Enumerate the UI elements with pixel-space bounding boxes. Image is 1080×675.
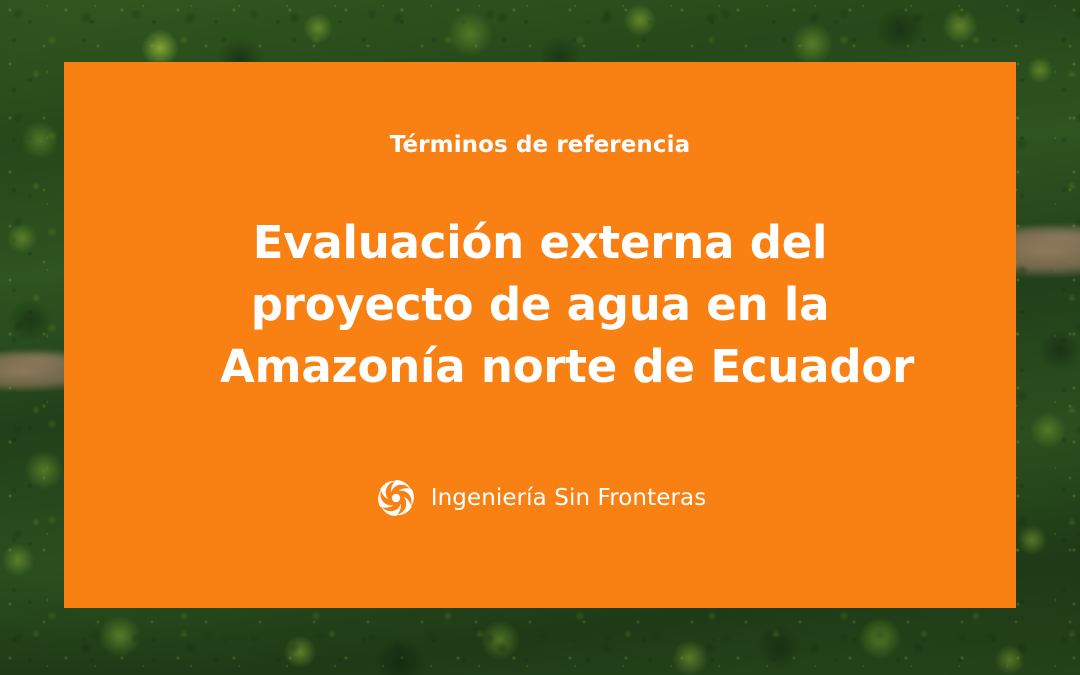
document-type-eyebrow: Términos de referencia [390, 134, 690, 157]
page-title-line-1: Evaluación externa del [220, 212, 860, 274]
title-slide: Términos de referencia Evaluación extern… [0, 0, 1080, 675]
swirl-vortex-icon [374, 476, 418, 520]
organization-name: Ingeniería Sin Fronteras [431, 487, 707, 510]
organization-logo: Ingeniería Sin Fronteras [374, 476, 707, 520]
page-title-line-2: proyecto de agua en la [220, 274, 860, 336]
page-title-line-3: Amazonía norte de Ecuador [220, 336, 860, 398]
orange-content-panel: Términos de referencia Evaluación extern… [64, 62, 1016, 608]
page-title: Evaluación externa del proyecto de agua … [220, 212, 860, 398]
